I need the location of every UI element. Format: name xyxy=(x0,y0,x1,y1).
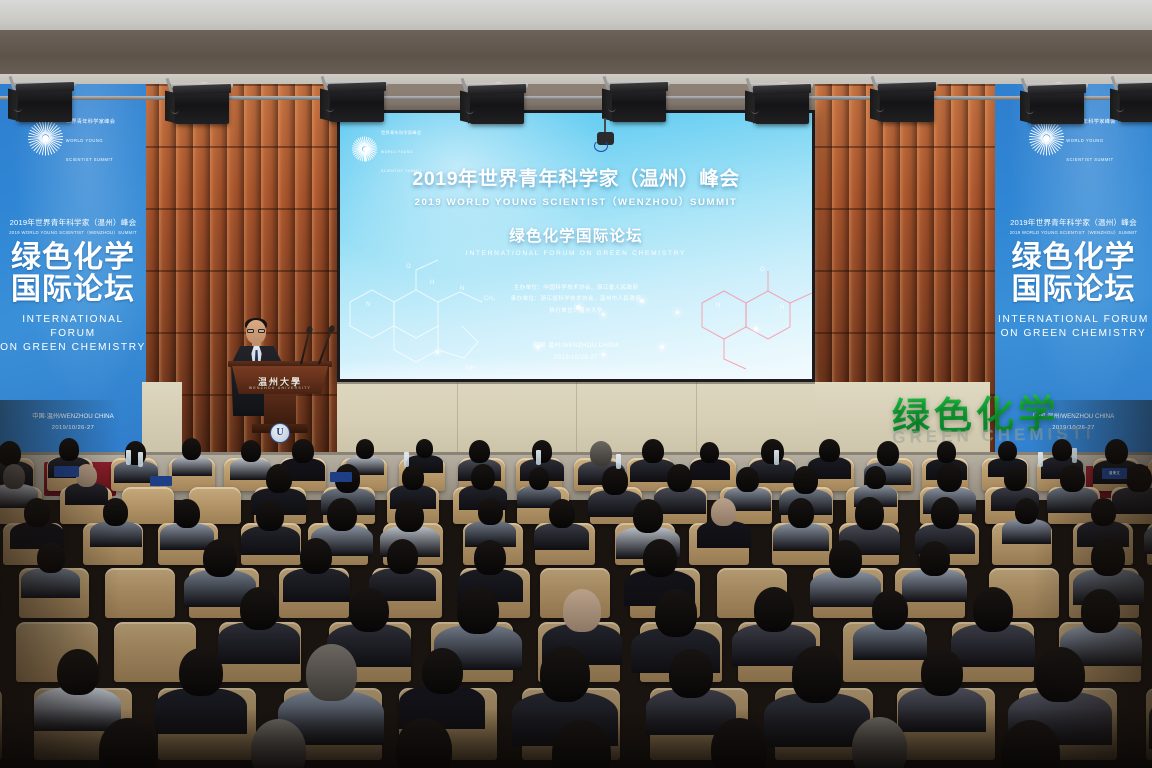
audience-member-head xyxy=(919,541,950,575)
audience-member-head xyxy=(1004,466,1027,492)
audience-member-head xyxy=(563,589,601,632)
audience-member-head xyxy=(540,646,590,702)
audience-member-head xyxy=(792,646,843,703)
audience-member-head xyxy=(174,499,200,528)
audience-member-head xyxy=(877,441,899,466)
audience-member-head xyxy=(57,649,98,695)
audience-member-head xyxy=(240,587,279,631)
audience-member-head xyxy=(474,540,505,575)
banner-summit-cn: 2019年世界青年科学家（温州）峰会 xyxy=(10,217,137,228)
wyss-logo-screen: 世界青年科学家峰会 WORLD YOUNG SCIENTIST SUMMIT xyxy=(354,121,422,178)
audience-member-head xyxy=(103,498,128,526)
screen-headline-en: 2019 WORLD YOUNG SCIENTIST（WENZHOU）SUMMI… xyxy=(340,194,812,208)
screen-location: 中国·温州/WENZHOU CHINA xyxy=(340,341,812,352)
audience-member-head xyxy=(643,539,677,577)
audience-member-head xyxy=(3,464,25,489)
audience-member-head xyxy=(179,648,222,697)
banner-title-line2: 国际论坛 xyxy=(1012,274,1136,306)
screen-subtitle-cn: 绿色化学国际论坛 xyxy=(340,224,812,246)
name-placard-right: 曾秉文 xyxy=(1102,468,1127,479)
audience-member-head xyxy=(667,464,692,492)
wyss-logo-en1: WORLD YOUNG xyxy=(66,138,103,143)
wyss-logo-cn: 世界青年科学家峰会 xyxy=(381,130,421,135)
audience-member-head xyxy=(1035,647,1084,702)
name-placard-left xyxy=(54,466,79,477)
audience-member-head xyxy=(793,466,818,494)
banner-subtitle-line2: ON GREEN CHEMISTRY xyxy=(998,327,1149,341)
audience-member-head xyxy=(59,438,79,461)
banner-subtitle-line2: ON GREEN CHEMISTRY xyxy=(0,341,146,355)
audience-member-head xyxy=(642,439,664,464)
screen-subtitle-en: INTERNATIONAL FORUM ON GREEN CHEMISTRY xyxy=(340,250,812,257)
banner-summit-cn: 2019年世界青年科学家（温州）峰会 xyxy=(1010,217,1137,228)
conference-hall-photo: 世界青年科学家峰会 WORLD YOUNG SCIENTIST SUMMIT 2… xyxy=(0,0,1152,768)
eyeglasses-icon xyxy=(247,329,265,333)
audience-member-head xyxy=(1052,439,1072,461)
audience-member-head xyxy=(711,718,767,768)
audience-member-head xyxy=(266,464,292,493)
audience-member-head xyxy=(937,463,962,492)
led-screen: OH NCH₃ NNH ONN xyxy=(337,110,815,382)
wyss-logo-en2: SCIENTIST SUMMIT xyxy=(381,169,422,173)
audience-member-shoulders xyxy=(1144,524,1152,554)
audience-member-head xyxy=(931,497,960,529)
audience-member-head xyxy=(402,465,424,489)
audience-member-head xyxy=(590,441,612,466)
ceiling-dark-band xyxy=(0,30,1152,78)
audience-member-head xyxy=(921,649,963,696)
wyss-logo-cn: 世界青年科学家峰会 xyxy=(66,119,115,125)
audience-member-head xyxy=(478,498,503,525)
organizer-line: 执行单位：温州大学 xyxy=(340,306,812,317)
audience-member-head xyxy=(855,497,884,530)
audience-member-head xyxy=(549,499,575,528)
audience-member-head xyxy=(655,589,697,636)
organizer-line: 主办单位：中国科学技术协会、浙江省人民政府 xyxy=(340,283,812,294)
banner-title-line1: 绿色化学 xyxy=(1012,242,1136,274)
audience-member-head xyxy=(872,590,907,630)
audience-member-head xyxy=(292,439,313,463)
audience-member-head xyxy=(76,464,97,487)
audience-member-head xyxy=(754,587,794,632)
audience-member-shoulders xyxy=(0,571,1,607)
audience-member-head xyxy=(0,441,21,466)
audience-member-head xyxy=(422,648,463,694)
auditorium-seat xyxy=(105,568,175,618)
auditorium-seat xyxy=(122,487,174,525)
banner-title-line1: 绿色化学 xyxy=(11,242,135,274)
sunburst-icon xyxy=(1031,123,1061,153)
audience-member-head xyxy=(241,440,261,462)
podium: 温州大學 WENZHOU UNIVERSITY xyxy=(232,361,328,413)
wyss-logo-en2: SCIENTIST SUMMIT xyxy=(1066,157,1113,162)
audience-member-head xyxy=(37,542,65,573)
banner-summit-en: 2019 WORLD YOUNG SCIENTIST（WENZHOU）SUMMI… xyxy=(9,230,137,236)
audience-member-head xyxy=(356,439,374,459)
sunburst-icon xyxy=(31,123,61,153)
audience-member-head xyxy=(973,587,1013,632)
audience-member-head xyxy=(416,439,433,459)
placard-text: 曾秉文 xyxy=(1102,468,1127,479)
wyss-logo-en2: SCIENTIST SUMMIT xyxy=(66,157,113,162)
banner-title-line2: 国际论坛 xyxy=(11,274,135,306)
audience-member-head xyxy=(1105,439,1127,464)
audience-member-head xyxy=(256,500,284,531)
audience-member-head xyxy=(203,539,237,577)
podium-front-panel: 温州大學 WENZHOU UNIVERSITY xyxy=(232,366,328,394)
audience-member-head xyxy=(469,440,490,463)
audience-member-head xyxy=(387,539,419,574)
banner-location: 中国·温州/WENZHOU CHINA xyxy=(0,411,146,423)
audience-member-head xyxy=(300,538,332,574)
audience-member-head xyxy=(1091,538,1125,576)
audience-member-head xyxy=(327,498,356,531)
audience-member-head xyxy=(937,441,957,463)
audience-member-head xyxy=(865,466,886,489)
audience-member-head xyxy=(1081,589,1120,633)
screen-organizers: 主办单位：中国科学技术协会、浙江省人民政府 承办单位：浙江省科学技术协会、温州市… xyxy=(340,283,812,317)
audience-member-head xyxy=(306,644,357,701)
auditorium-seat xyxy=(0,688,2,761)
banner-subtitle-line1: INTERNATIONAL FORUM xyxy=(998,313,1149,327)
screen-location-block: 中国·温州/WENZHOU CHINA 2019/10/26-27 xyxy=(340,341,812,364)
audience-member-head xyxy=(633,499,663,533)
audience-member-head xyxy=(736,467,758,492)
audience-member-head xyxy=(1126,464,1152,493)
banner-subtitle-line1: INTERNATIONAL FORUM xyxy=(0,313,146,341)
audience-member-head xyxy=(829,540,863,578)
audience-member-head xyxy=(819,439,839,462)
audience-member-head xyxy=(24,498,50,527)
audience-member-head xyxy=(457,587,499,634)
audience-member-head xyxy=(700,442,719,463)
audience-member-head xyxy=(669,649,712,697)
wyss-logo-en1: WORLD YOUNG xyxy=(1066,138,1103,143)
audience-member-head xyxy=(182,438,201,459)
audience-member-head xyxy=(1015,498,1038,524)
audience-member-head xyxy=(788,498,815,528)
sunburst-icon xyxy=(354,138,376,160)
name-placard-3 xyxy=(330,472,352,482)
audience-member-head xyxy=(1060,465,1084,492)
audience-member-head xyxy=(532,440,553,463)
audience-member-head xyxy=(529,467,550,490)
audience-member-head xyxy=(1091,498,1116,526)
audience-member-head xyxy=(395,500,424,532)
audience-member-head xyxy=(711,498,736,527)
wyss-logo-en1: WORLD YOUNG xyxy=(381,150,413,154)
audience-member-head xyxy=(471,464,494,490)
organizer-line: 承办单位：浙江省科学技术协会、温州市人民政府 xyxy=(340,294,812,305)
audience-member-head xyxy=(349,588,389,633)
podium-name-en: WENZHOU UNIVERSITY xyxy=(232,386,328,390)
audience-member-head xyxy=(761,439,784,464)
screen-date: 2019/10/26-27 xyxy=(340,353,812,364)
audience-member-head xyxy=(99,718,157,768)
audience-member-head xyxy=(602,466,628,495)
name-placard-2 xyxy=(150,476,172,486)
audience-member-head xyxy=(998,441,1016,461)
audience-area xyxy=(0,430,1152,768)
banner-left: 世界青年科学家峰会 WORLD YOUNG SCIENTIST SUMMIT 2… xyxy=(0,84,146,456)
banner-summit-en: 2019 WORLD YOUNG SCIENTIST（WENZHOU）SUMMI… xyxy=(1010,230,1138,236)
